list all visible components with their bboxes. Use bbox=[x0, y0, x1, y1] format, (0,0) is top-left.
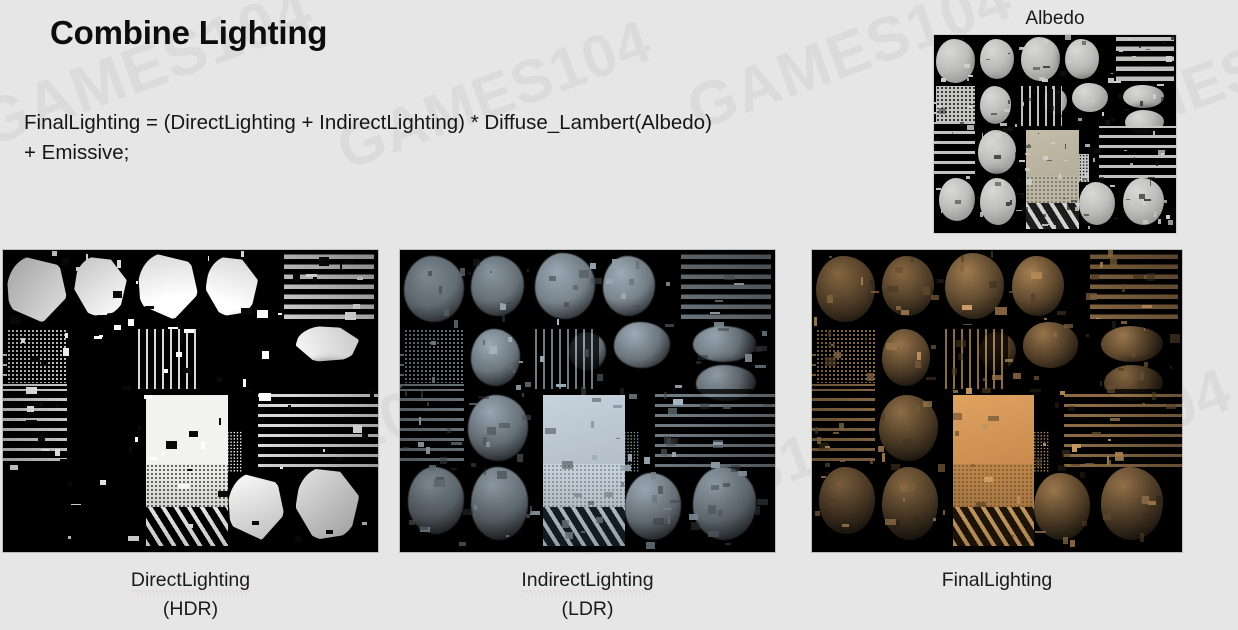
texture-debris-speck bbox=[723, 405, 731, 409]
texture-rock-tile bbox=[816, 256, 875, 322]
texture-debris-speck bbox=[403, 447, 409, 449]
texture-debris-speck bbox=[936, 137, 940, 141]
texture-debris-speck bbox=[591, 278, 602, 284]
texture-debris-speck bbox=[644, 457, 650, 465]
texture-debris-speck bbox=[755, 365, 767, 368]
texture-debris-speck bbox=[344, 338, 352, 342]
texture-debris-speck bbox=[861, 277, 863, 286]
texture-debris-speck bbox=[651, 472, 656, 480]
texture-debris-speck bbox=[982, 388, 992, 393]
texture-stripe-tile bbox=[138, 329, 202, 389]
texture-debris-speck bbox=[1144, 362, 1149, 367]
texture-debris-speck bbox=[71, 504, 81, 506]
texture-debris-speck bbox=[881, 413, 885, 420]
texture-debris-speck bbox=[1148, 177, 1154, 179]
texture-debris-speck bbox=[419, 417, 421, 426]
texture-debris-speck bbox=[1161, 153, 1163, 155]
texture-debris-speck bbox=[961, 38, 964, 40]
texture-debris-speck bbox=[829, 498, 838, 506]
texture-rock-tile bbox=[614, 322, 670, 367]
texture-debris-speck bbox=[1133, 275, 1144, 278]
texture-debris-speck bbox=[1035, 531, 1045, 533]
texture-rock-tile bbox=[296, 326, 360, 362]
texture-debris-speck bbox=[915, 516, 918, 523]
texture-debris-speck bbox=[400, 385, 402, 388]
texture-debris-speck bbox=[596, 517, 603, 522]
texture-debris-speck bbox=[923, 287, 930, 294]
texture-debris-speck bbox=[469, 403, 479, 405]
texture-debris-speck bbox=[135, 437, 138, 442]
texture-debris-speck bbox=[988, 416, 999, 420]
texture-debris-speck bbox=[833, 432, 839, 434]
texture-debris-speck bbox=[252, 521, 259, 526]
texture-debris-speck bbox=[27, 406, 34, 412]
texture-debris-speck bbox=[1153, 94, 1156, 99]
texture-debris-speck bbox=[717, 531, 719, 534]
texture-debris-speck bbox=[474, 505, 477, 510]
texture-debris-speck bbox=[1115, 456, 1124, 461]
texture-debris-speck bbox=[1143, 220, 1148, 224]
texture-debris-speck bbox=[1100, 381, 1102, 386]
texture-debris-speck bbox=[715, 300, 723, 302]
texture-debris-speck bbox=[68, 482, 71, 487]
texture-debris-speck bbox=[664, 392, 668, 399]
texture-debris-speck bbox=[362, 522, 367, 525]
texture-debris-speck bbox=[516, 385, 521, 390]
texture-debris-speck bbox=[1134, 157, 1136, 160]
texture-debris-speck bbox=[1017, 128, 1020, 129]
texture-debris-speck bbox=[1054, 225, 1056, 227]
texture-debris-speck bbox=[1019, 160, 1025, 162]
texture-debris-speck bbox=[1039, 214, 1046, 217]
texture-debris-speck bbox=[1110, 259, 1117, 265]
texture-debris-speck bbox=[1061, 493, 1064, 499]
texture-debris-speck bbox=[1065, 35, 1071, 40]
texture-debris-speck bbox=[418, 442, 424, 447]
texture-debris-speck bbox=[1024, 145, 1031, 148]
texture-debris-speck bbox=[711, 485, 719, 490]
ground-sand-region bbox=[953, 395, 1034, 464]
texture-debris-speck bbox=[903, 498, 905, 501]
texture-debris-speck bbox=[691, 522, 701, 530]
texture-debris-speck bbox=[977, 197, 980, 199]
texture-debris-speck bbox=[974, 49, 976, 50]
texture-debris-speck bbox=[189, 431, 198, 436]
texture-rock-tile bbox=[882, 467, 938, 539]
texture-rock-tile bbox=[1072, 83, 1108, 113]
texture-debris-speck bbox=[86, 254, 89, 260]
texture-debris-speck bbox=[1033, 67, 1039, 69]
texture-rock-tile bbox=[404, 256, 464, 322]
texture-debris-speck bbox=[1020, 195, 1025, 199]
texture-ground-tile bbox=[1026, 130, 1079, 229]
texture-debris-speck bbox=[1131, 204, 1132, 207]
texture-debris-speck bbox=[562, 461, 573, 470]
texture-debris-speck bbox=[1047, 160, 1053, 161]
texture-debris-speck bbox=[1119, 50, 1124, 52]
texture-debris-speck bbox=[825, 472, 831, 474]
texture-debris-speck bbox=[1082, 178, 1087, 180]
texture-debris-speck bbox=[517, 454, 523, 462]
texture-debris-speck bbox=[136, 281, 138, 284]
texture-rock-tile bbox=[625, 473, 681, 539]
texture-debris-speck bbox=[621, 482, 625, 487]
texture-debris-speck bbox=[1082, 521, 1087, 526]
texture-debris-speck bbox=[1166, 56, 1172, 61]
texture-debris-speck bbox=[931, 295, 939, 300]
texture-debris-speck bbox=[1118, 94, 1122, 99]
texture-debris-speck bbox=[353, 304, 360, 309]
texture-debris-speck bbox=[1028, 144, 1030, 145]
texture-debris-speck bbox=[128, 319, 134, 326]
texture-debris-speck bbox=[1118, 191, 1120, 193]
texture-debris-speck bbox=[590, 263, 596, 269]
texture-debris-speck bbox=[1111, 73, 1113, 74]
texture-debris-speck bbox=[670, 500, 681, 504]
texture-debris-speck bbox=[1036, 459, 1042, 467]
texture-rock-tile bbox=[138, 253, 198, 319]
texture-debris-speck bbox=[1086, 185, 1092, 187]
texture-debris-speck bbox=[1043, 66, 1050, 68]
texture-debris-speck bbox=[958, 353, 963, 360]
texture-debris-speck bbox=[1112, 321, 1115, 329]
texture-debris-speck bbox=[217, 377, 223, 383]
texture-debris-speck bbox=[1009, 291, 1016, 294]
direct-lighting-render bbox=[3, 250, 378, 552]
texture-debris-speck bbox=[565, 532, 572, 539]
texture-debris-speck bbox=[989, 281, 996, 289]
texture-debris-speck bbox=[513, 370, 515, 372]
texture-debris-speck bbox=[870, 461, 873, 464]
texture-debris-speck bbox=[1084, 214, 1088, 216]
texture-debris-speck bbox=[1002, 128, 1009, 132]
texture-stripe-tile bbox=[535, 329, 599, 389]
texture-debris-speck bbox=[426, 447, 430, 454]
texture-debris-speck bbox=[923, 401, 933, 407]
texture-debris-speck bbox=[34, 402, 43, 407]
texture-debris-speck bbox=[664, 436, 670, 445]
texture-debris-speck bbox=[1157, 84, 1164, 86]
texture-debris-speck bbox=[26, 420, 37, 422]
texture-debris-speck bbox=[886, 343, 897, 351]
texture-debris-speck bbox=[933, 518, 935, 520]
texture-debris-speck bbox=[1085, 144, 1090, 147]
texture-debris-speck bbox=[581, 531, 585, 533]
texture-debris-speck bbox=[128, 536, 138, 541]
texture-debris-speck bbox=[968, 75, 973, 77]
texture-debris-speck bbox=[451, 442, 462, 445]
texture-debris-speck bbox=[915, 406, 920, 413]
texture-debris-speck bbox=[549, 276, 556, 281]
ground-gravel-region bbox=[953, 464, 1034, 506]
texture-debris-speck bbox=[613, 405, 622, 408]
texture-debris-speck bbox=[545, 428, 556, 434]
texture-debris-speck bbox=[1108, 439, 1111, 441]
indirect-lighting-render bbox=[400, 250, 775, 552]
texture-debris-speck bbox=[903, 439, 912, 447]
texture-debris-speck bbox=[326, 530, 332, 534]
texture-debris-speck bbox=[1093, 158, 1095, 163]
texture-debris-speck bbox=[825, 357, 836, 365]
texture-debris-speck bbox=[1071, 200, 1078, 202]
texture-debris-speck bbox=[1140, 533, 1145, 542]
texture-debris-speck bbox=[1017, 193, 1024, 194]
texture-debris-speck bbox=[661, 449, 667, 456]
texture-debris-speck bbox=[827, 295, 833, 303]
texture-debris-speck bbox=[409, 520, 415, 525]
texture-debris-speck bbox=[963, 324, 973, 326]
texture-debris-speck bbox=[1008, 100, 1010, 103]
texture-debris-speck bbox=[1096, 318, 1100, 320]
texture-rock-tile bbox=[228, 473, 284, 539]
texture-debris-speck bbox=[55, 449, 61, 456]
texture-debris-speck bbox=[1122, 284, 1124, 292]
texture-debris-speck bbox=[1092, 100, 1094, 103]
texture-debris-speck bbox=[557, 319, 560, 325]
texture-debris-speck bbox=[965, 81, 970, 85]
texture-debris-speck bbox=[215, 519, 218, 524]
texture-debris-speck bbox=[980, 212, 982, 217]
texture-debris-speck bbox=[967, 106, 972, 108]
texture-debris-speck bbox=[941, 78, 946, 81]
texture-debris-speck bbox=[229, 274, 236, 277]
texture-debris-speck bbox=[723, 483, 729, 487]
texture-debris-speck bbox=[62, 258, 69, 265]
texture-debris-speck bbox=[763, 404, 772, 407]
texture-debris-speck bbox=[1161, 97, 1163, 103]
albedo-thumbnail bbox=[934, 35, 1176, 233]
texture-debris-speck bbox=[1094, 149, 1100, 152]
texture-debris-speck bbox=[714, 322, 725, 328]
albedo-label: Albedo bbox=[934, 8, 1176, 30]
texture-rock-tile bbox=[11, 467, 67, 533]
texture-debris-speck bbox=[1086, 293, 1096, 299]
texture-debris-speck bbox=[1062, 450, 1069, 458]
texture-debris-speck bbox=[961, 255, 963, 261]
texture-debris-speck bbox=[154, 267, 157, 270]
texture-debris-speck bbox=[503, 303, 510, 305]
texture-debris-speck bbox=[1163, 42, 1166, 44]
texture-debris-speck bbox=[1042, 224, 1048, 225]
texture-debris-speck bbox=[1058, 465, 1066, 471]
texture-debris-speck bbox=[564, 302, 570, 306]
texture-debris-speck bbox=[1048, 224, 1052, 225]
texture-debris-speck bbox=[1108, 460, 1111, 465]
texture-debris-speck bbox=[335, 457, 343, 461]
texture-debris-speck bbox=[926, 377, 935, 381]
texture-debris-speck bbox=[896, 306, 901, 310]
texture-debris-speck bbox=[911, 258, 914, 262]
texture-debris-speck bbox=[370, 391, 374, 397]
texture-debris-speck bbox=[1025, 168, 1030, 170]
texture-debris-speck bbox=[1017, 496, 1020, 504]
texture-debris-speck bbox=[711, 462, 720, 468]
texture-debris-speck bbox=[829, 256, 833, 258]
texture-debris-speck bbox=[484, 264, 489, 266]
texture-debris-speck bbox=[439, 286, 441, 294]
texture-debris-speck bbox=[936, 188, 941, 191]
texture-debris-speck bbox=[1030, 389, 1041, 392]
texture-debris-speck bbox=[994, 155, 1001, 159]
texture-rock-tile bbox=[1023, 322, 1079, 367]
texture-debris-speck bbox=[573, 285, 578, 291]
texture-debris-speck bbox=[629, 279, 634, 285]
texture-debris-speck bbox=[68, 536, 71, 539]
texture-debris-speck bbox=[1124, 109, 1129, 111]
texture-debris-speck bbox=[964, 64, 971, 68]
texture-debris-speck bbox=[219, 418, 221, 425]
texture-debris-speck bbox=[1166, 215, 1170, 219]
texture-debris-speck bbox=[1056, 91, 1060, 93]
texture-debris-speck bbox=[1031, 293, 1035, 302]
texture-debris-speck bbox=[842, 524, 850, 527]
texture-debris-speck bbox=[700, 403, 709, 409]
texture-debris-speck bbox=[939, 108, 946, 114]
texture-debris-speck bbox=[612, 259, 623, 268]
texture-debris-speck bbox=[941, 209, 942, 213]
texture-debris-speck bbox=[1085, 463, 1095, 465]
texture-debris-speck bbox=[825, 463, 830, 467]
texture-rock-tile bbox=[693, 467, 757, 539]
texture-debris-speck bbox=[658, 486, 663, 493]
texture-debris-speck bbox=[1004, 109, 1010, 112]
texture-debris-speck bbox=[519, 361, 523, 364]
texture-debris-speck bbox=[1072, 444, 1081, 447]
texture-debris-speck bbox=[486, 442, 490, 447]
texture-debris-speck bbox=[653, 518, 664, 525]
texture-debris-speck bbox=[123, 386, 132, 390]
texture-debris-speck bbox=[636, 261, 639, 270]
texture-debris-speck bbox=[755, 506, 759, 515]
texture-debris-speck bbox=[357, 277, 362, 280]
texture-debris-speck bbox=[1028, 98, 1034, 101]
texture-rock-tile bbox=[1012, 256, 1064, 316]
texture-debris-speck bbox=[1015, 152, 1017, 157]
texture-debris-speck bbox=[689, 514, 698, 521]
ground-hatched-ramp-region bbox=[146, 507, 229, 546]
texture-debris-speck bbox=[1033, 89, 1035, 95]
texture-debris-speck bbox=[353, 425, 362, 434]
ground-hatched-ramp-region bbox=[543, 507, 626, 546]
texture-debris-speck bbox=[145, 306, 154, 309]
texture-debris-speck bbox=[597, 374, 603, 380]
texture-debris-speck bbox=[870, 280, 873, 285]
texture-debris-speck bbox=[620, 388, 624, 395]
texture-debris-speck bbox=[1137, 381, 1146, 388]
texture-debris-speck bbox=[499, 423, 510, 428]
texture-debris-speck bbox=[1034, 376, 1038, 381]
texture-debris-speck bbox=[1144, 328, 1146, 331]
texture-debris-speck bbox=[1006, 202, 1010, 206]
texture-debris-speck bbox=[1147, 273, 1156, 281]
texture-debris-speck bbox=[94, 336, 101, 339]
ground-sand-region bbox=[146, 395, 229, 464]
texture-debris-speck bbox=[966, 388, 972, 393]
texture-debris-speck bbox=[738, 471, 747, 476]
texture-debris-speck bbox=[937, 279, 944, 283]
texture-debris-speck bbox=[473, 259, 480, 265]
texture-debris-speck bbox=[562, 520, 569, 528]
texture-debris-speck bbox=[323, 449, 325, 452]
texture-debris-speck bbox=[621, 465, 631, 471]
texture-debris-speck bbox=[972, 464, 974, 467]
texture-debris-speck bbox=[979, 148, 982, 152]
texture-debris-speck bbox=[629, 394, 637, 399]
texture-debris-speck bbox=[506, 535, 509, 537]
texture-debris-speck bbox=[955, 431, 959, 436]
texture-debris-speck bbox=[76, 267, 80, 271]
texture-debris-speck bbox=[1107, 385, 1115, 393]
ground-gravel-region bbox=[1026, 176, 1079, 204]
texture-debris-speck bbox=[427, 402, 429, 406]
texture-debris-speck bbox=[995, 182, 1001, 185]
texture-debris-speck bbox=[1170, 366, 1172, 369]
texture-debris-speck bbox=[1171, 35, 1176, 39]
texture-debris-speck bbox=[815, 511, 820, 516]
ground-gravel-region bbox=[543, 464, 626, 506]
texture-debris-speck bbox=[663, 508, 671, 510]
texture-debris-speck bbox=[1013, 373, 1021, 378]
texture-debris-speck bbox=[1066, 531, 1077, 534]
texture-debris-speck bbox=[953, 413, 962, 419]
texture-debris-speck bbox=[1126, 199, 1131, 200]
texture-debris-speck bbox=[1146, 49, 1150, 50]
texture-ground-tile bbox=[543, 395, 626, 546]
texture-debris-speck bbox=[943, 510, 945, 515]
texture-debris-speck bbox=[1142, 403, 1145, 405]
texture-debris-speck bbox=[21, 338, 25, 343]
texture-debris-speck bbox=[1145, 64, 1150, 65]
texture-debris-speck bbox=[1018, 179, 1020, 181]
texture-debris-speck bbox=[724, 275, 735, 279]
texture-debris-speck bbox=[1070, 540, 1074, 547]
texture-debris-speck bbox=[447, 428, 451, 432]
texture-debris-speck bbox=[931, 345, 936, 349]
texture-debris-speck bbox=[1086, 334, 1088, 337]
texture-debris-speck bbox=[1143, 513, 1153, 516]
texture-debris-speck bbox=[293, 274, 300, 282]
ground-sand-region bbox=[1026, 130, 1079, 176]
caption-final-lighting: FinalLighting bbox=[812, 566, 1182, 595]
texture-debris-speck bbox=[982, 133, 984, 138]
texture-debris-speck bbox=[478, 396, 489, 399]
texture-debris-speck bbox=[187, 469, 192, 471]
texture-debris-speck bbox=[1166, 404, 1176, 409]
texture-debris-speck bbox=[591, 421, 594, 428]
texture-debris-speck bbox=[1102, 112, 1104, 116]
texture-debris-speck bbox=[831, 344, 833, 346]
texture-rock-tile bbox=[1021, 37, 1060, 81]
texture-debris-speck bbox=[1108, 250, 1113, 257]
page-title: Combine Lighting bbox=[50, 14, 327, 52]
texture-debris-speck bbox=[489, 346, 496, 354]
texture-debris-speck bbox=[1067, 205, 1073, 210]
texture-debris-speck bbox=[1105, 120, 1110, 125]
texture-debris-speck bbox=[616, 438, 621, 440]
texture-debris-speck bbox=[1048, 206, 1051, 207]
texture-debris-speck bbox=[991, 251, 993, 258]
texture-debris-speck bbox=[814, 317, 817, 326]
texture-debris-speck bbox=[1057, 311, 1066, 316]
slide-canvas: GAMES104 GAMES104 GAMES104 GAMES104 GAME… bbox=[0, 0, 1238, 630]
texture-debris-speck bbox=[288, 405, 291, 409]
texture-rock-tile bbox=[980, 39, 1014, 79]
texture-debris-speck bbox=[592, 398, 601, 401]
texture-debris-speck bbox=[1053, 332, 1057, 336]
texture-debris-speck bbox=[459, 542, 466, 546]
texture-debris-speck bbox=[510, 365, 513, 369]
texture-debris-speck bbox=[162, 452, 165, 454]
